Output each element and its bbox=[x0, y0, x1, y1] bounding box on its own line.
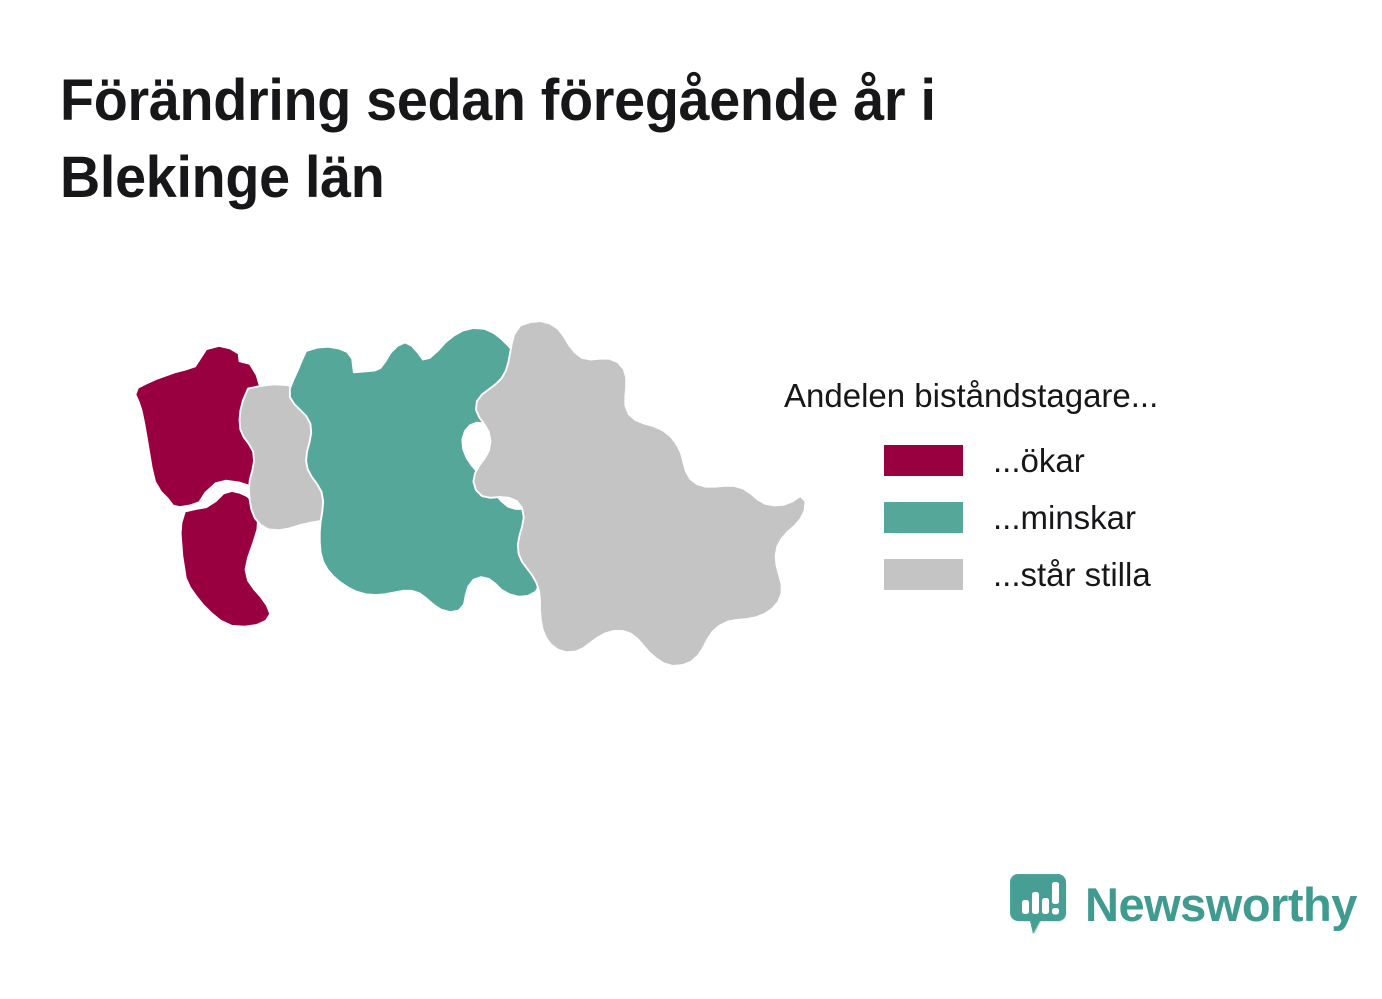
newsworthy-logo[interactable]: Newsworthy bbox=[1009, 872, 1357, 936]
infographic-canvas: Förändring sedan föregående år i Bleking… bbox=[0, 0, 1382, 999]
map-municipalities bbox=[135, 321, 805, 666]
legend-title: Andelen biståndstagare... bbox=[784, 378, 1344, 414]
legend: Andelen biståndstagare... ...ökar ...min… bbox=[784, 378, 1344, 603]
newsworthy-bar-chart-bubble-icon bbox=[1009, 872, 1071, 936]
legend-item-unchanged[interactable]: ...står stilla bbox=[784, 546, 1344, 603]
legend-label-increasing: ...ökar bbox=[993, 444, 1085, 477]
legend-label-decreasing: ...minskar bbox=[993, 501, 1136, 534]
legend-swatch-increasing bbox=[884, 445, 963, 476]
legend-swatch-decreasing bbox=[884, 502, 963, 533]
page-title: Förändring sedan föregående år i Bleking… bbox=[60, 62, 1135, 216]
newsworthy-wordmark: Newsworthy bbox=[1085, 881, 1357, 928]
legend-item-list: ...ökar ...minskar ...står stilla bbox=[784, 432, 1344, 603]
title-block: Förändring sedan föregående år i Bleking… bbox=[60, 62, 1180, 216]
legend-item-increasing[interactable]: ...ökar bbox=[784, 432, 1344, 489]
choropleth-map bbox=[120, 310, 820, 710]
legend-label-unchanged: ...står stilla bbox=[993, 558, 1151, 591]
map-area-karlskrona[interactable] bbox=[473, 321, 805, 666]
blekinge-map-svg bbox=[120, 310, 820, 710]
legend-item-decreasing[interactable]: ...minskar bbox=[784, 489, 1344, 546]
legend-swatch-unchanged bbox=[884, 559, 963, 590]
